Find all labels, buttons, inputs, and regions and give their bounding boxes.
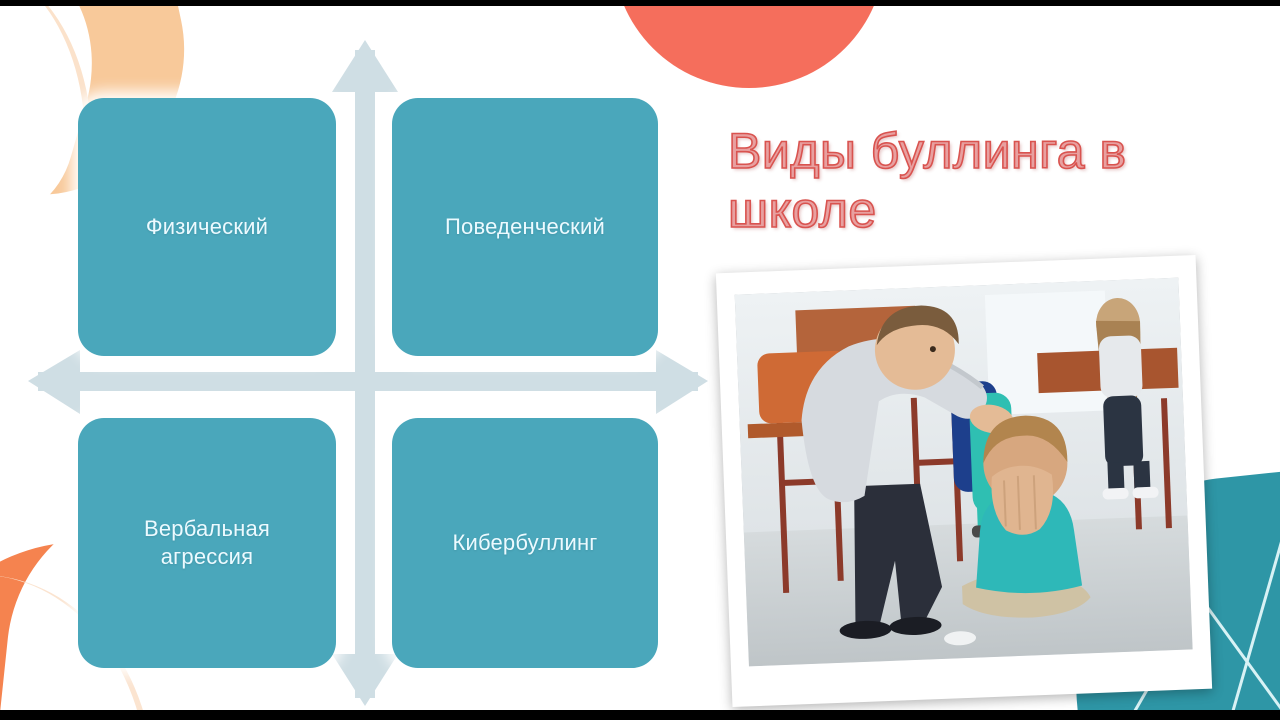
matrix-box-physical[interactable]: Физический	[78, 98, 336, 356]
letterbox-bottom-bar	[0, 710, 1280, 720]
bullying-photo	[735, 278, 1193, 667]
matrix-box-physical-label: Физический	[136, 213, 278, 241]
letterbox-top-bar	[0, 0, 1280, 6]
matrix-box-verbal-aggression-label: Вербальная агрессия	[134, 515, 280, 571]
photo-frame	[716, 255, 1212, 707]
matrix-box-behavioral-label: Поведенческий	[435, 213, 615, 241]
slide-stage: Физический Поведенческий Вербальная агре…	[0, 0, 1280, 720]
presentation-slide: Физический Поведенческий Вербальная агре…	[0, 6, 1280, 710]
matrix-box-cyberbullying[interactable]: Кибербуллинг	[392, 418, 658, 668]
slide-title: Виды буллинга в школе	[728, 122, 1238, 240]
matrix-box-behavioral[interactable]: Поведенческий	[392, 98, 658, 356]
matrix-box-cyberbullying-label: Кибербуллинг	[442, 529, 607, 557]
matrix-box-verbal-aggression[interactable]: Вербальная агрессия	[78, 418, 336, 668]
